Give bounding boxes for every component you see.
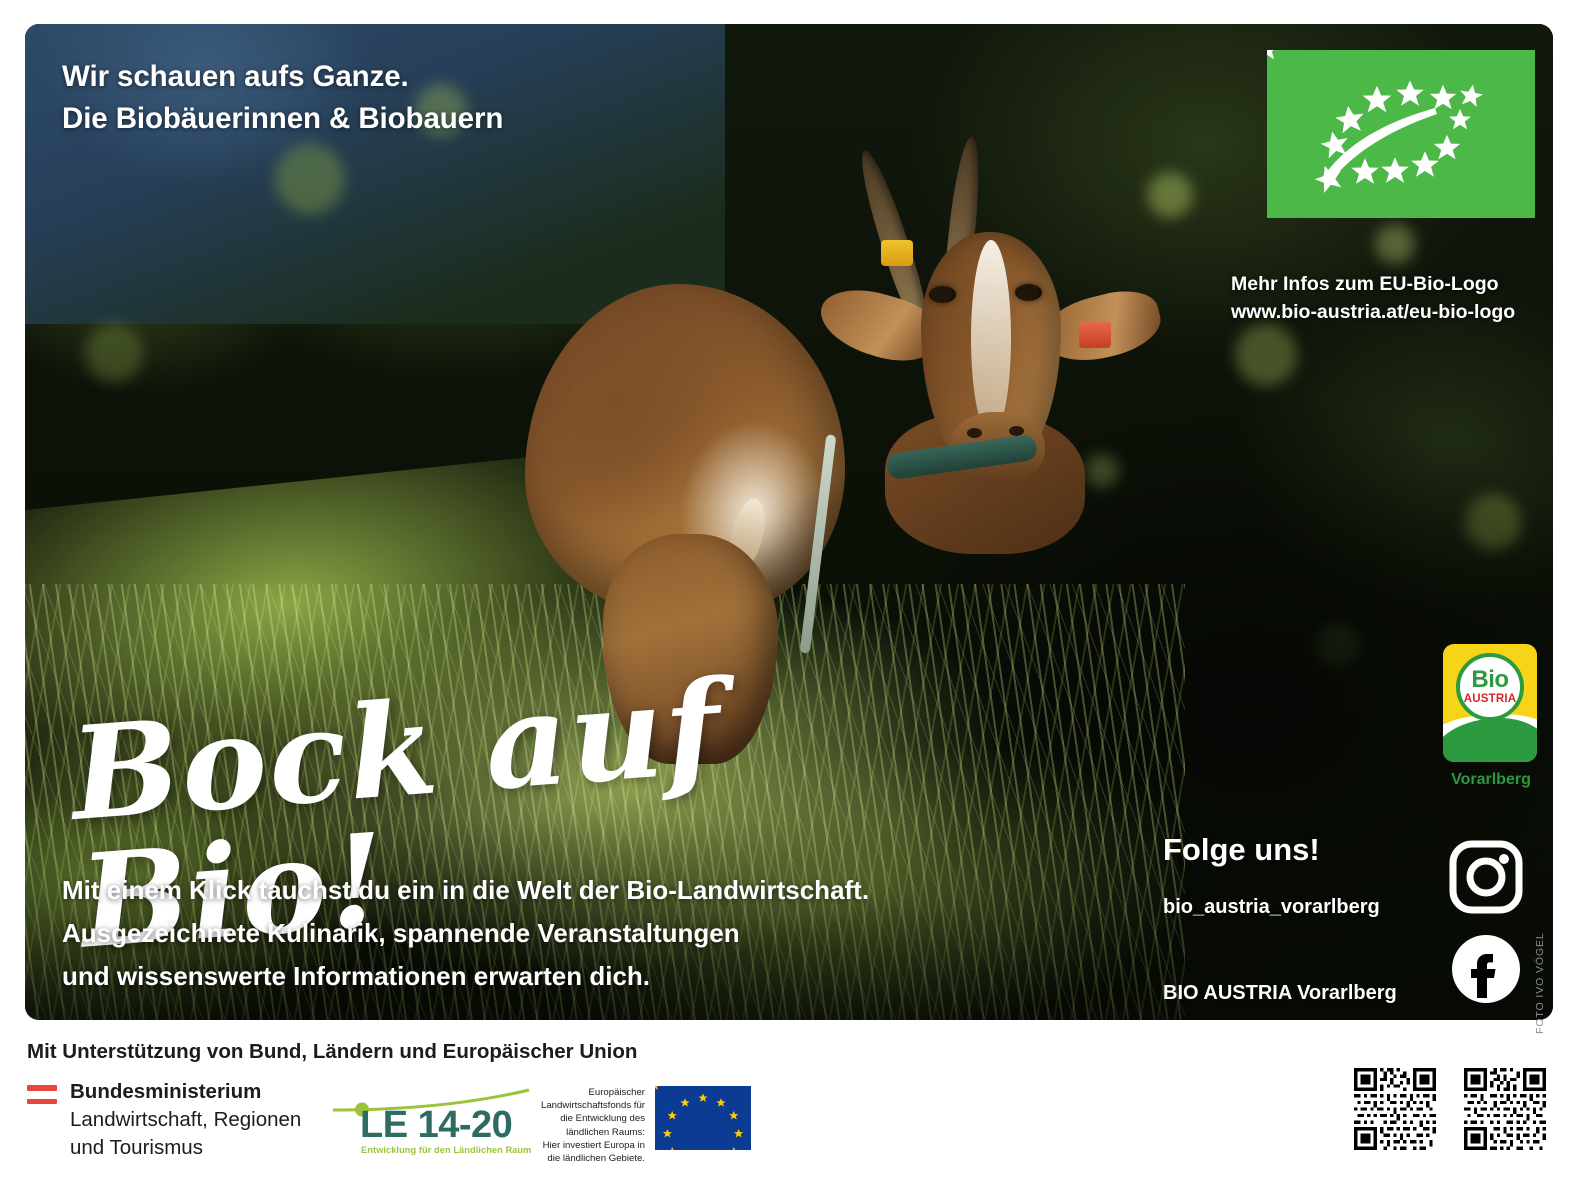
bokeh-light xyxy=(1375,224,1415,264)
support-note: Mit Unterstützung von Bund, Ländern und … xyxy=(27,1040,637,1064)
bio-austria-logo: Bio AUSTRIA Vorarlberg xyxy=(1443,644,1539,789)
goat-nostril-left xyxy=(967,428,982,438)
photo-credit: FOTO IVO VÖGEL xyxy=(1534,884,1554,1034)
qr-code-left[interactable] xyxy=(1354,1068,1436,1150)
eu-organic-leaf-stars-icon xyxy=(1267,50,1535,218)
le-sub-label: Entwicklung für den Ländlichen Raum xyxy=(361,1145,531,1155)
qr-code-right[interactable] xyxy=(1464,1068,1546,1150)
eu-fund-text: Europäischer Landwirtschaftsfonds für di… xyxy=(537,1086,645,1165)
european-union-flag xyxy=(655,1086,751,1150)
page-title: Wir schauen aufs Ganze. Die Biobäuerinne… xyxy=(62,56,503,140)
facebook-icon[interactable] xyxy=(1449,932,1523,1011)
flag-bar-white xyxy=(27,1092,57,1098)
eu-fund-block: Europäischer Landwirtschaftsfonds für di… xyxy=(537,1086,751,1165)
bokeh-light xyxy=(275,144,345,214)
le-main-label: LE 14-20 xyxy=(360,1104,512,1147)
facebook-page-name: BIO AUSTRIA Vorarlberg xyxy=(1163,982,1397,1005)
goat-eye-right xyxy=(1015,284,1042,301)
hero-photo: Wir schauen aufs Ganze. Die Biobäuerinne… xyxy=(25,24,1553,1020)
le-14-20-logo: LE 14-20 Entwicklung für den Ländlichen … xyxy=(333,1082,533,1154)
bio-austria-card: Bio AUSTRIA xyxy=(1443,644,1537,762)
bio-austria-seal: Bio AUSTRIA xyxy=(1456,653,1524,721)
body-copy: Mit einem Klick tauchst du ein in die We… xyxy=(62,869,869,998)
bio-austria-austria-word: AUSTRIA xyxy=(1464,694,1517,706)
flag-bar-red-bottom xyxy=(27,1099,57,1105)
goat-ear-tag-left xyxy=(881,240,913,266)
ministry-line-1: Bundesministerium xyxy=(70,1080,261,1103)
ministry-name: BundesministeriumLandwirtschaft, Regione… xyxy=(70,1078,301,1162)
austrian-flag-icon xyxy=(27,1085,57,1104)
goat-head xyxy=(825,144,1205,524)
ministry-logo: BundesministeriumLandwirtschaft, Regione… xyxy=(27,1078,301,1162)
ministry-line-3: und Tourismus xyxy=(70,1136,203,1159)
follow-us-title: Folge uns! xyxy=(1163,832,1320,868)
bokeh-light xyxy=(85,324,143,382)
flag-bar-red-top xyxy=(27,1085,57,1091)
ministry-line-2: Landwirtschaft, Regionen xyxy=(70,1108,301,1131)
instagram-handle: bio_austria_vorarlberg xyxy=(1163,896,1380,919)
bio-austria-region-label: Vorarlberg xyxy=(1443,771,1539,789)
bio-austria-bio-word: Bio xyxy=(1471,668,1508,692)
goat-face-blaze xyxy=(971,240,1011,436)
goat-ear-tag-right xyxy=(1079,322,1111,348)
bio-austria-poster: Wir schauen aufs Ganze. Die Biobäuerinne… xyxy=(0,0,1578,1192)
instagram-icon[interactable] xyxy=(1449,840,1523,919)
eu-bio-logo-caption: Mehr Infos zum EU-Bio-Logo www.bio-austr… xyxy=(1231,270,1551,327)
goat-eye-left xyxy=(929,286,956,303)
